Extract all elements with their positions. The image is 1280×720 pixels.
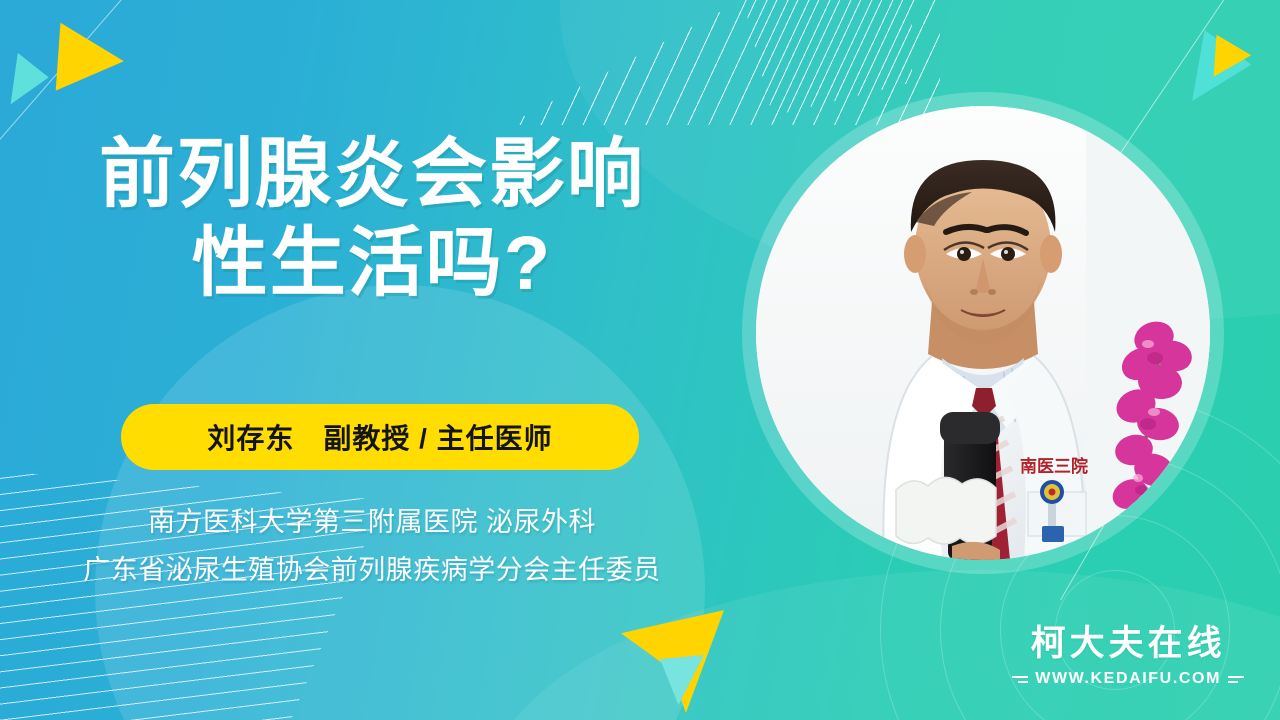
title-line-2: 性生活吗?: [0, 221, 744, 308]
triangle-yellow-top-right-icon: [1214, 35, 1253, 79]
affiliation-line-2: 广东省泌尿生殖协会前列腺疾病学分会主任委员: [0, 548, 744, 587]
affiliation-line-1: 南方医科大学第三附属医院 泌尿外科: [0, 500, 744, 539]
doctor-portrait-photo: 南医三院: [756, 106, 1210, 560]
title-line-1: 前列腺炎会影响: [0, 132, 744, 219]
brand-url-row: WWW.KEDAIFU.COM: [1012, 670, 1244, 688]
brand-url: WWW.KEDAIFU.COM: [1035, 670, 1221, 688]
coat-embroidery-label: 南医三院: [1020, 456, 1088, 477]
doctor-name-title-label: 刘存东 副教授 / 主任医师: [207, 417, 552, 457]
doctor-name-badge: 刘存东 副教授 / 主任医师: [121, 404, 639, 470]
dash-right-icon: [1228, 676, 1244, 683]
brand-logo: 柯大夫在线 WWW.KEDAIFU.COM: [1012, 626, 1244, 688]
doctor-portrait-frame: 南医三院: [742, 92, 1224, 574]
brand-name-cn: 柯大夫在线: [1012, 626, 1244, 661]
triangle-yellow-top-left-icon: [56, 23, 127, 95]
doctor-photo-illustration: 南医三院: [756, 106, 1210, 560]
page-title: 前列腺炎会影响 性生活吗?: [0, 132, 744, 307]
triangle-cyan-top-left-icon: [11, 53, 52, 109]
dash-left-icon: [1012, 676, 1028, 683]
poster-canvas: 南医三院: [0, 0, 1280, 720]
